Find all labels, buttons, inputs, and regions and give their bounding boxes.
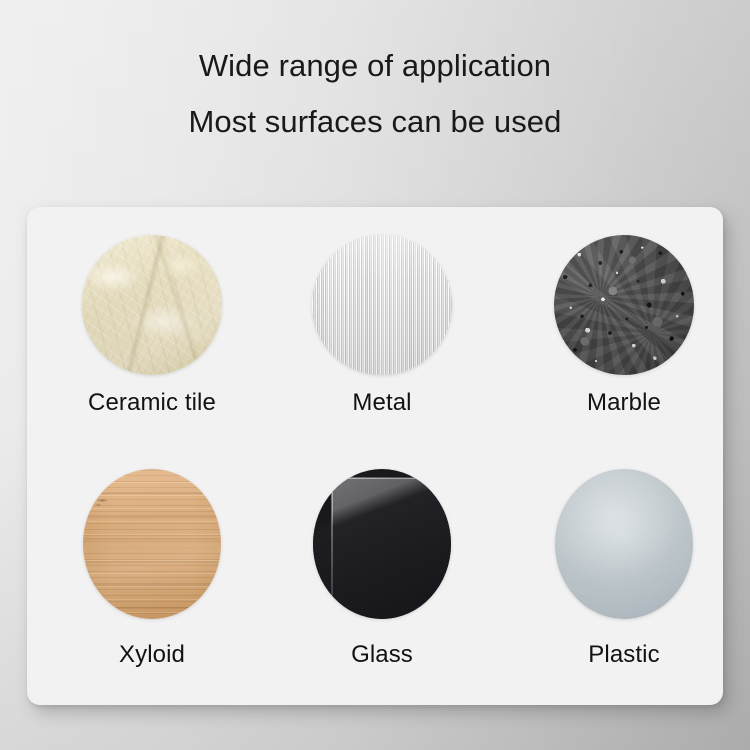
surface-label-glass: Glass — [266, 641, 498, 669]
swatch-wrap-metal — [312, 235, 452, 375]
surface-item-marble: Marble — [508, 235, 723, 417]
swatch-wrap-plastic — [555, 469, 693, 619]
swatch-wrap-ceramic-tile — [82, 235, 222, 375]
promo-image: Wide range of application Most surfaces … — [0, 0, 750, 750]
swatch-wrap-marble — [554, 235, 694, 375]
surface-item-plastic: Plastic — [508, 469, 723, 669]
glass-left-edge-highlight — [331, 475, 333, 619]
speckled-stone-texture — [554, 235, 694, 375]
surface-item-xyloid: Xyloid — [36, 469, 268, 669]
ceramic-tile-texture — [82, 235, 222, 375]
surface-item-ceramic-tile: Ceramic tile — [36, 235, 268, 417]
surface-item-metal: Metal — [266, 235, 498, 417]
surface-label-xyloid: Xyloid — [36, 641, 268, 669]
surface-item-glass: Glass — [266, 469, 498, 669]
surface-label-plastic: Plastic — [508, 641, 723, 669]
glass-top-edge-highlight — [332, 477, 451, 479]
surfaces-card: Ceramic tile Metal Marble Xyloid — [27, 207, 723, 705]
wood-grain-texture — [83, 469, 221, 619]
surfaces-grid: Ceramic tile Metal Marble Xyloid — [27, 207, 723, 705]
dark-glass-texture — [313, 469, 451, 619]
plastic-texture — [555, 469, 693, 619]
headline-secondary: Most surfaces can be used — [0, 106, 750, 137]
swatch-wrap-glass — [313, 469, 451, 619]
brushed-metal-texture — [312, 235, 452, 375]
headline-block: Wide range of application Most surfaces … — [0, 0, 750, 137]
swatch-wrap-xyloid — [83, 469, 221, 619]
surface-label-metal: Metal — [266, 389, 498, 417]
headline-primary: Wide range of application — [0, 50, 750, 81]
surface-label-marble: Marble — [508, 389, 723, 417]
surface-label-ceramic-tile: Ceramic tile — [36, 389, 268, 417]
